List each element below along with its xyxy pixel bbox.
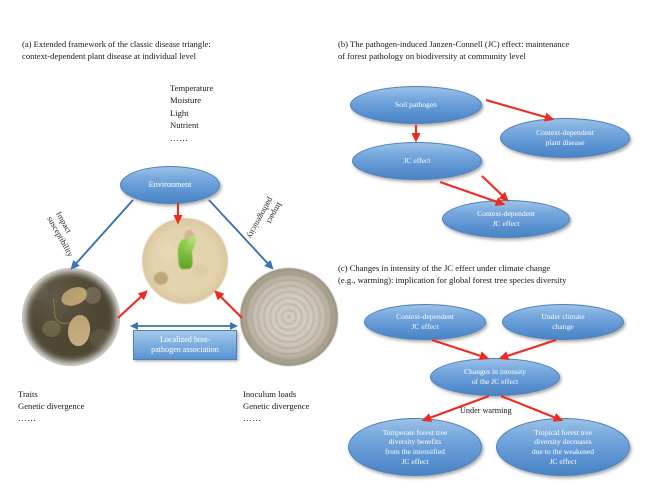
arrow-impact-susceptibility <box>72 200 133 268</box>
node-context-dependent-plant-disease[interactable]: Context-dependentplant disease <box>500 118 630 158</box>
host-seedling-photo <box>22 268 120 366</box>
node-jc-effect[interactable]: JC effect <box>352 142 482 180</box>
sprout-shape <box>181 234 198 258</box>
panel-a-caption: (a) Extended framework of the classic di… <box>22 38 322 62</box>
figure-canvas: (a) Extended framework of the classic di… <box>0 0 650 487</box>
environment-factor: Light <box>170 107 213 119</box>
node-soil-pathogen[interactable]: Soil pathogen <box>350 86 482 124</box>
node-context-dependent-jc-effect[interactable]: Context-dependentJC effect <box>442 200 570 238</box>
environment-factor: Temperature <box>170 82 213 94</box>
under-warming-label: Under warming <box>460 406 512 415</box>
node-environment[interactable]: Environment <box>120 166 220 204</box>
arrow-host-to-center <box>118 292 146 318</box>
arrow-b-disease-to-context-jc <box>482 176 507 200</box>
leaf-shape <box>60 285 89 308</box>
localized-association-box[interactable]: Localized host-pathogen association <box>133 330 237 360</box>
pathogen-colony-photo <box>240 268 338 366</box>
panel-b-caption: (b) The pathogen-induced Janzen-Connell … <box>338 38 644 62</box>
arrow-c-climate-to-changes <box>501 340 556 358</box>
panel-c-caption: (c) Changes in intensity of the JC effec… <box>338 262 646 286</box>
node-temperate-outcome[interactable]: Temperate forest treediversity benefitsf… <box>348 418 482 476</box>
arrow-c-context-to-changes <box>432 340 487 358</box>
node-label: Temperate forest treediversity benefitsf… <box>383 428 447 466</box>
node-label: Under climatechange <box>541 312 584 331</box>
host-traits-label: TraitsGenetic divergence…… <box>18 388 84 425</box>
node-label: Changes in intensityof the JC effect <box>464 367 526 386</box>
environment-factor: Nutrient <box>170 119 213 131</box>
localized-association-label: Localized host-pathogen association <box>151 335 219 356</box>
arrow-pathogen-to-center <box>216 292 242 318</box>
node-tropical-outcome[interactable]: Tropical forest treediversity decreasesd… <box>496 418 630 476</box>
node-label: Context-dependentJC effect <box>477 209 535 228</box>
environment-factor: Moisture <box>170 94 213 106</box>
node-under-climate-change[interactable]: Under climatechange <box>502 304 624 340</box>
node-label: JC effect <box>403 156 430 166</box>
environment-factor-ellipsis: …… <box>170 132 213 144</box>
arrow-b-soil-to-disease <box>486 100 552 119</box>
node-c-context-dependent-jc-effect[interactable]: Context-dependentJC effect <box>364 304 486 340</box>
environment-factor-list: Temperature Moisture Light Nutrient …… <box>170 82 213 144</box>
node-changes-in-intensity[interactable]: Changes in intensityof the JC effect <box>430 358 560 396</box>
impact-susceptibility-label: Impactsusceptibility <box>45 210 84 259</box>
impact-pathogenicity-label: Impactpathogenicity <box>244 195 284 245</box>
node-label: Soil pathogen <box>395 100 437 110</box>
node-label: Context-dependentJC effect <box>396 312 454 331</box>
arrow-overlay <box>0 0 650 487</box>
node-label: Context-dependentplant disease <box>536 128 594 147</box>
node-label: Tropical forest treediversity decreasesd… <box>532 428 594 466</box>
pathogen-inoculum-label: Inoculum loadsGenetic divergence…… <box>243 388 309 425</box>
center-sprout-photo <box>142 218 228 304</box>
